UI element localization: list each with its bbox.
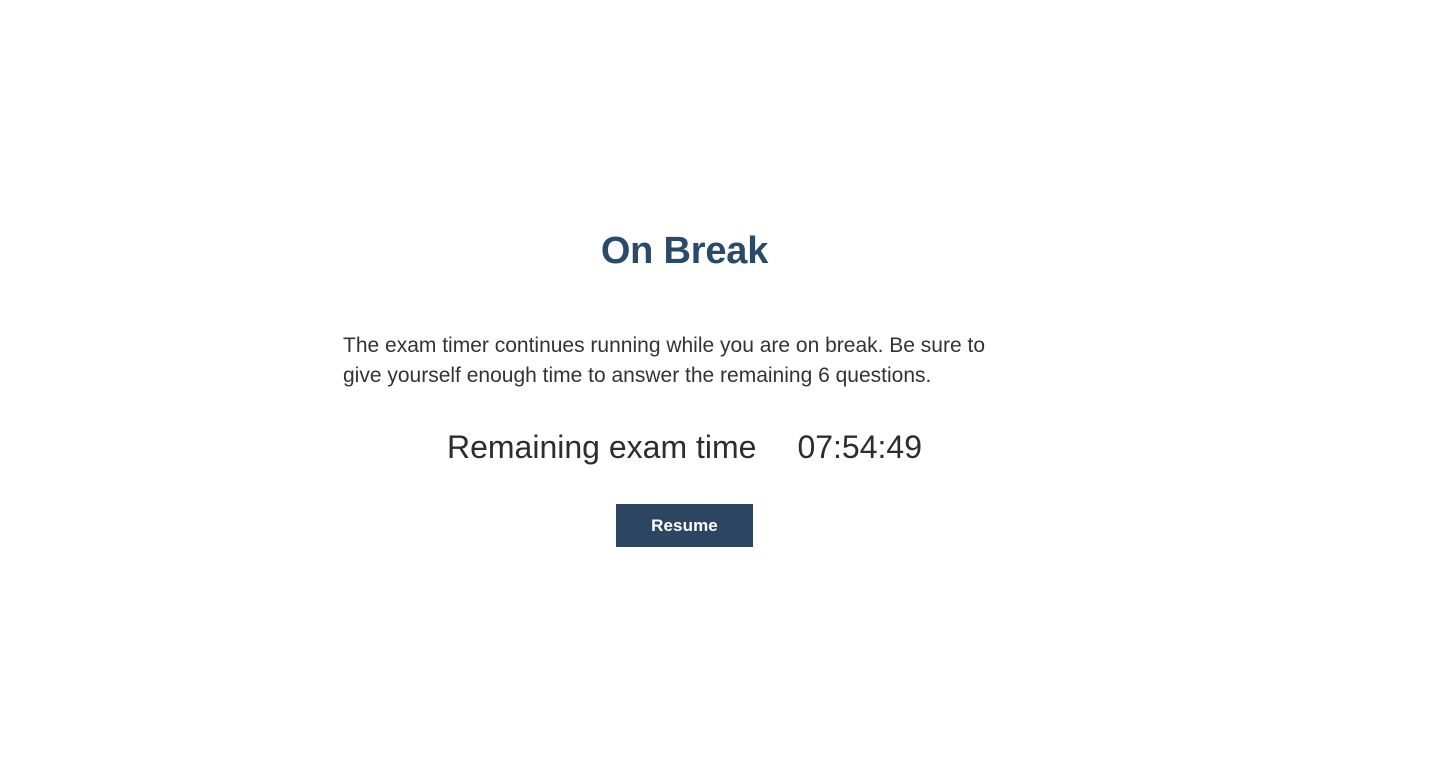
resume-button[interactable]: Resume <box>616 504 753 547</box>
break-screen: On Break The exam timer continues runnin… <box>0 0 1431 783</box>
remaining-time-row: Remaining exam time 07:54:49 <box>343 391 1026 466</box>
remaining-time-value: 07:54:49 <box>756 428 922 466</box>
break-panel: On Break The exam timer continues runnin… <box>343 228 1026 547</box>
button-row: Resume <box>343 466 1026 547</box>
break-message: The exam timer continues running while y… <box>343 274 1026 391</box>
remaining-time-label: Remaining exam time <box>447 428 756 466</box>
page-title: On Break <box>343 228 1026 274</box>
